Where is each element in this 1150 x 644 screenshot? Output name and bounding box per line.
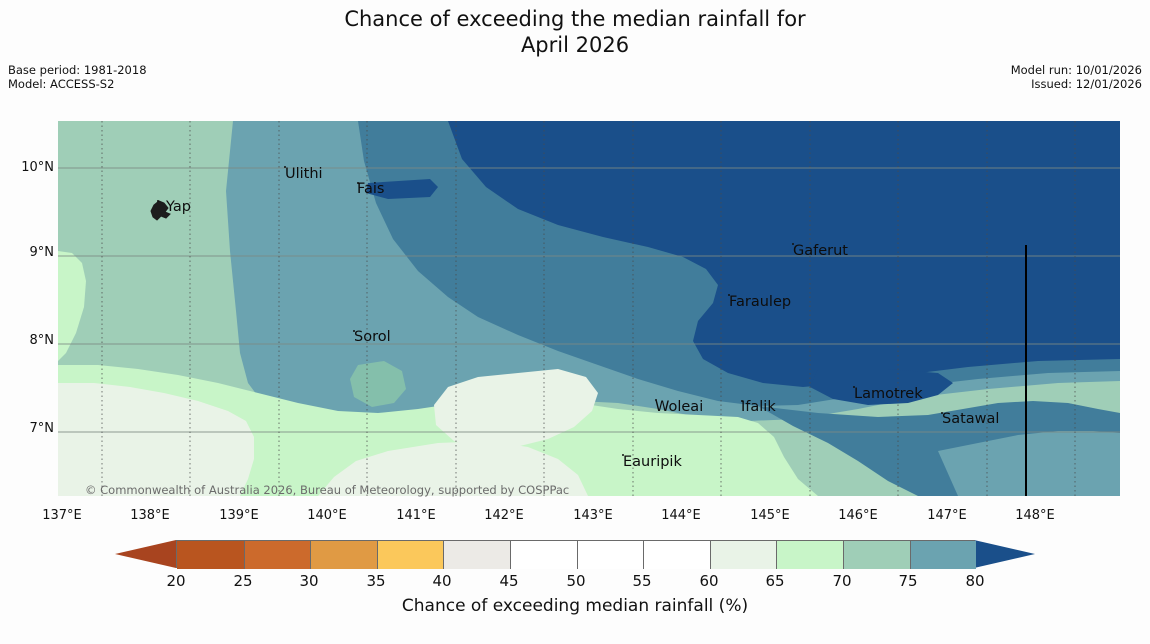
colorbar[interactable]: 20 25 30 35 40 45 50 55 60 65 70 75 80 C… (0, 540, 1150, 644)
colorbar-segment-70-75 (843, 541, 910, 569)
copyright-credit: © Commonwealth of Australia 2026, Bureau… (85, 483, 569, 497)
colorbar-segment-20-25 (177, 541, 244, 569)
place-label-eauripik: Eauripik (623, 454, 682, 470)
colorbar-axis-label: Chance of exceeding median rainfall (%) (0, 596, 1150, 616)
colorbar-label-55: 55 (612, 572, 672, 590)
colorbar-segment-40-45 (443, 541, 510, 569)
issued-text: Issued: 12/01/2026 (1011, 77, 1142, 91)
lon-label-146e: 146°E (818, 508, 898, 523)
colorbar-label-35: 35 (346, 572, 406, 590)
lon-label-147e: 147°E (907, 508, 987, 523)
lon-label-143e: 143°E (553, 508, 633, 523)
colorbar-segment-60-65 (710, 541, 777, 569)
place-label-ifalik: Ifalik (741, 399, 776, 415)
colorbar-label-50: 50 (546, 572, 606, 590)
colorbar-label-30: 30 (279, 572, 339, 590)
lon-label-138e: 138°E (110, 508, 190, 523)
colorbar-label-45: 45 (479, 572, 539, 590)
colorbar-tick-65 (776, 541, 777, 569)
place-label-lamotrek: Lamotrek (854, 386, 923, 402)
lat-label-9n: 9°N (0, 245, 54, 260)
rainfall-probability-map[interactable] (58, 121, 1120, 496)
model-text: Model: ACCESS-S2 (8, 77, 147, 91)
colorbar-label-80: 80 (945, 572, 1005, 590)
colorbar-label-70: 70 (812, 572, 872, 590)
place-label-gaferut: Gaferut (793, 243, 848, 259)
place-label-woleai: Woleai (655, 399, 703, 415)
lon-label-142e: 142°E (464, 508, 544, 523)
map-contour-canvas (58, 121, 1120, 496)
lon-label-144e: 144°E (641, 508, 721, 523)
place-label-sorol: Sorol (354, 329, 391, 345)
colorbar-tick-70 (843, 541, 844, 569)
colorbar-tick-55 (643, 541, 644, 569)
lon-label-141e: 141°E (376, 508, 456, 523)
colorbar-label-65: 65 (745, 572, 805, 590)
colorbar-extend-high-arrow (974, 540, 1035, 568)
model-run-text: Model run: 10/01/2026 (1011, 63, 1142, 77)
colorbar-tick-30 (310, 541, 311, 569)
lon-label-145e: 145°E (730, 508, 810, 523)
title-line-1: Chance of exceeding the median rainfall … (0, 6, 1150, 32)
colorbar-label-25: 25 (213, 572, 273, 590)
lon-label-139e: 139°E (199, 508, 279, 523)
place-label-yap: Yap (166, 199, 191, 215)
colorbar-segment-50-55 (577, 541, 644, 569)
colorbar-tick-50 (577, 541, 578, 569)
meridian-marker-line (1025, 245, 1027, 496)
colorbar-segment-30-35 (310, 541, 377, 569)
place-label-faraulep: Faraulep (729, 294, 791, 310)
colorbar-label-20: 20 (146, 572, 206, 590)
place-label-ulithi: Ulithi (285, 166, 323, 182)
colorbar-segment-25-30 (244, 541, 311, 569)
colorbar-extend-low-arrow (115, 540, 176, 568)
place-label-fais: Fais (357, 181, 384, 197)
colorbar-tick-75 (910, 541, 911, 569)
lat-label-7n: 7°N (0, 421, 54, 436)
colorbar-tick-45 (510, 541, 511, 569)
colorbar-label-75: 75 (878, 572, 938, 590)
place-label-satawal: Satawal (942, 411, 999, 427)
page-title: Chance of exceeding the median rainfall … (0, 6, 1150, 58)
lat-label-10n: 10°N (0, 160, 54, 175)
colorbar-segment-75-80 (910, 541, 976, 569)
colorbar-tick-40 (443, 541, 444, 569)
colorbar-label-40: 40 (412, 572, 472, 590)
base-period-text: Base period: 1981-2018 (8, 63, 147, 77)
colorbar-body[interactable] (176, 540, 975, 568)
colorbar-tick-60 (710, 541, 711, 569)
lat-label-8n: 8°N (0, 333, 54, 348)
colorbar-label-60: 60 (679, 572, 739, 590)
title-line-2: April 2026 (0, 32, 1150, 58)
colorbar-tick-25 (244, 541, 245, 569)
lon-label-148e: 148°E (995, 508, 1075, 523)
lon-label-140e: 140°E (287, 508, 367, 523)
metadata-right: Model run: 10/01/2026 Issued: 12/01/2026 (1011, 63, 1142, 91)
colorbar-tick-35 (377, 541, 378, 569)
lon-label-137e: 137°E (22, 508, 102, 523)
colorbar-segment-45-50 (510, 541, 577, 569)
metadata-left: Base period: 1981-2018 Model: ACCESS-S2 (8, 63, 147, 91)
place-dot-yap (157, 200, 159, 202)
colorbar-segment-35-40 (377, 541, 444, 569)
colorbar-segment-65-70 (776, 541, 843, 569)
colorbar-segment-55-60 (643, 541, 710, 569)
